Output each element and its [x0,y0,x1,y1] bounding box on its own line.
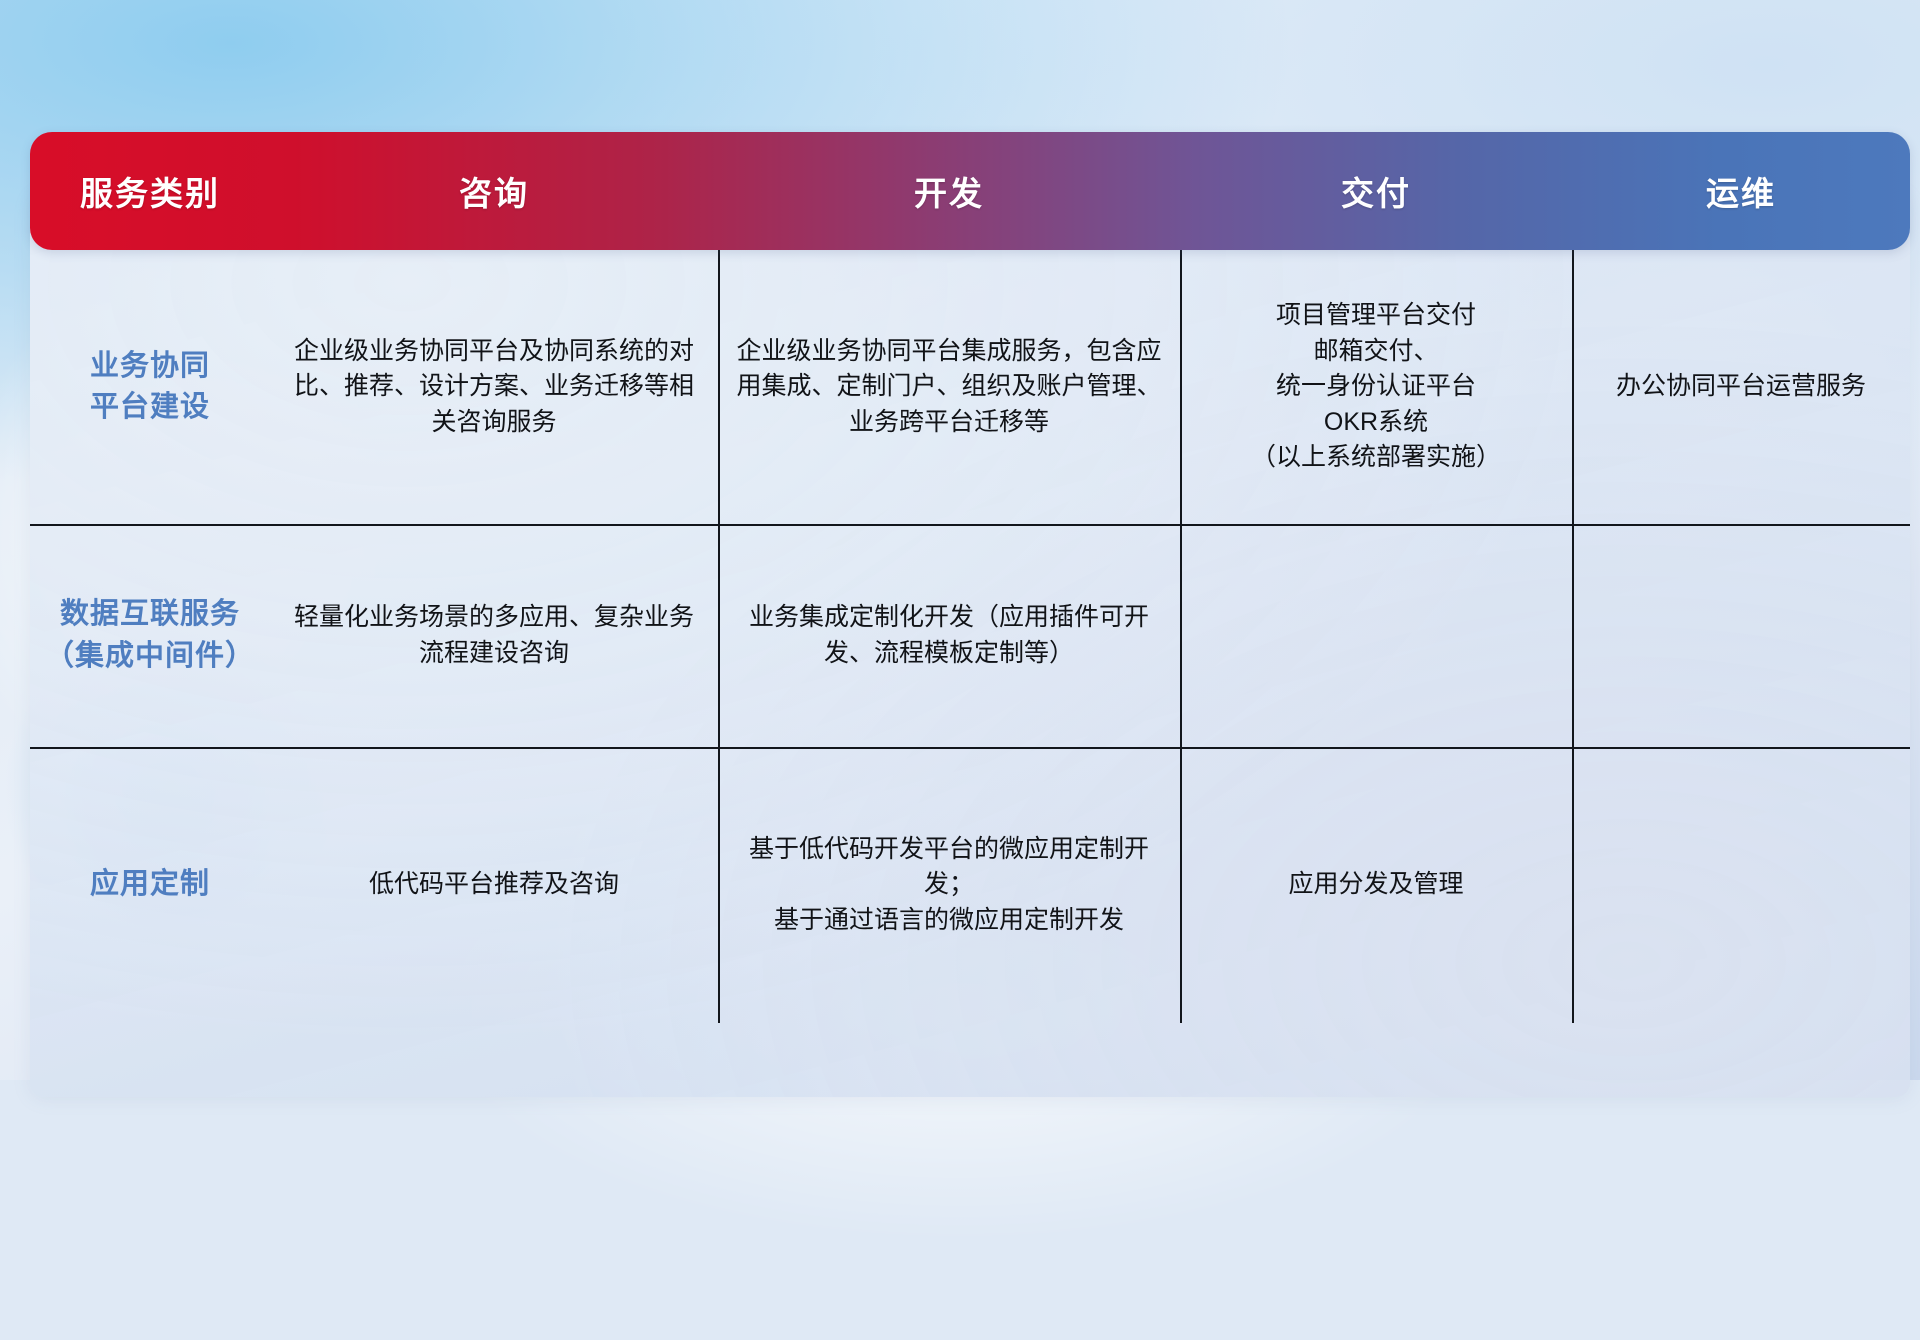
header-cell-service-category: 服务类别 [30,167,270,215]
row-divider-2 [30,747,1910,749]
table-row: 业务协同 平台建设 企业级业务协同平台及协同系统的对比、推荐、设计方案、业务迁移… [30,250,1910,524]
cell-development: 业务集成定制化开发（应用插件可开发、流程模板定制等） [718,524,1180,747]
service-matrix-table: 服务类别 咨询 开发 交付 运维 业务协同 平台建设 企业级业务协同平台及协同系… [30,132,1910,1023]
cell-operations [1572,747,1910,1023]
column-divider-1 [718,250,720,1023]
header-cell-operations: 运维 [1572,167,1910,215]
table-rows: 业务协同 平台建设 企业级业务协同平台及协同系统的对比、推荐、设计方案、业务迁移… [30,250,1910,1023]
column-divider-2 [1180,250,1182,1023]
column-divider-3 [1572,250,1574,1023]
cell-consulting: 低代码平台推荐及咨询 [270,747,718,1023]
header-cell-development: 开发 [718,167,1180,215]
row-category-label: 应用定制 [30,747,270,1023]
row-category-label: 业务协同 平台建设 [30,250,270,524]
row-category-label: 数据互联服务 （集成中间件） [30,524,270,747]
cell-delivery: 项目管理平台交付 邮箱交付、 统一身份认证平台 OKR系统 （以上系统部署实施） [1180,250,1572,524]
cell-consulting: 轻量化业务场景的多应用、复杂业务流程建设咨询 [270,524,718,747]
cell-consulting: 企业级业务协同平台及协同系统的对比、推荐、设计方案、业务迁移等相关咨询服务 [270,250,718,524]
cell-operations: 办公协同平台运营服务 [1572,250,1910,524]
table-row: 应用定制 低代码平台推荐及咨询 基于低代码开发平台的微应用定制开发； 基于通过语… [30,747,1910,1023]
cell-development: 企业级业务协同平台集成服务，包含应用集成、定制门户、组织及账户管理、业务跨平台迁… [718,250,1180,524]
table-header-row: 服务类别 咨询 开发 交付 运维 [30,132,1910,250]
cell-operations [1572,524,1910,747]
table-row: 数据互联服务 （集成中间件） 轻量化业务场景的多应用、复杂业务流程建设咨询 业务… [30,524,1910,747]
row-divider-1 [30,524,1910,526]
header-cell-delivery: 交付 [1180,167,1572,215]
cell-delivery: 应用分发及管理 [1180,747,1572,1023]
header-cell-consulting: 咨询 [270,167,718,215]
cell-development: 基于低代码开发平台的微应用定制开发； 基于通过语言的微应用定制开发 [718,747,1180,1023]
cell-delivery [1180,524,1572,747]
